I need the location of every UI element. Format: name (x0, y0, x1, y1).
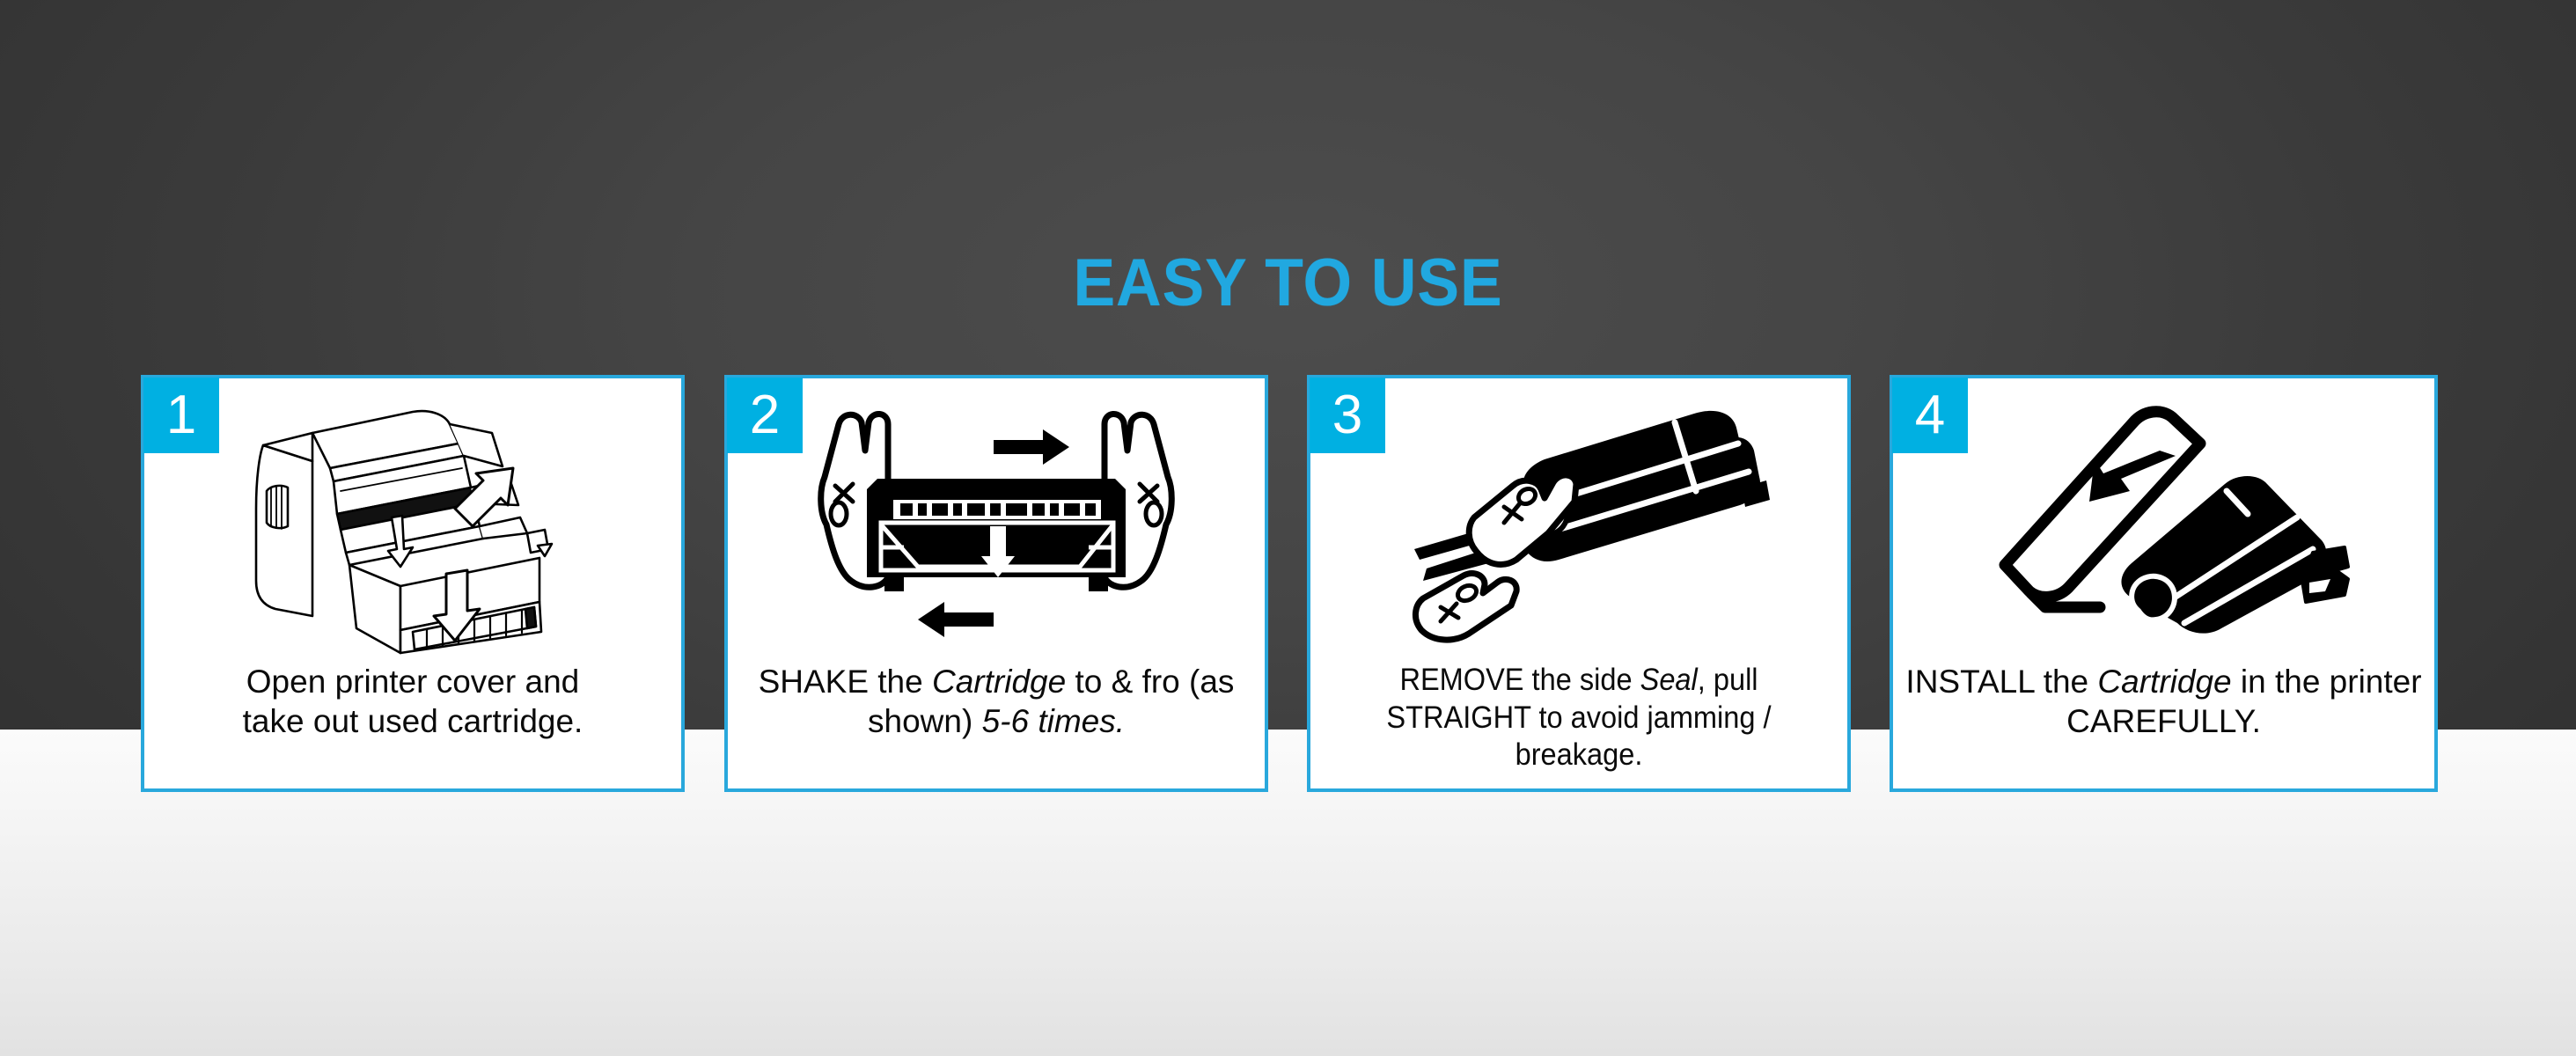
step-number-badge-4: 4 (1892, 378, 1968, 453)
install-cartridge-illustration (1893, 384, 2434, 665)
step-card-3[interactable]: 3 (1307, 375, 1851, 792)
step-number-badge-2: 2 (727, 378, 803, 453)
caption-part-1: REMOVE the side (1399, 663, 1640, 697)
printer-open-cover-illustration (144, 384, 681, 665)
step-caption-1: Open printer cover and take out used car… (153, 662, 672, 741)
caption-line-2: take out used cartridge. (243, 703, 583, 739)
caption-part-1: SHAKE the (759, 664, 932, 700)
step-caption-3: REMOVE the side Seal, pull STRAIGHT to a… (1338, 662, 1821, 774)
remove-side-seal-illustration (1310, 384, 1847, 665)
page-title: EASY TO USE (77, 250, 2499, 317)
caption-emphasis-1: Cartridge (2097, 664, 2231, 700)
caption-line-1: Open printer cover and (246, 664, 579, 700)
step-caption-4: INSTALL the Cartridge in the printer CAR… (1902, 662, 2426, 741)
step-number-badge-3: 3 (1310, 378, 1385, 453)
caption-emphasis-2: 5-6 times. (982, 703, 1125, 739)
poster-canvas: EASY TO USE 1 (0, 0, 2576, 1056)
step-card-4[interactable]: 4 (1890, 375, 2438, 792)
step-number-badge-1: 1 (143, 378, 219, 453)
step-caption-2: SHAKE the Cartridge to & fro (as shown) … (737, 662, 1256, 741)
caption-part-1: INSTALL the (1905, 664, 2097, 700)
hands-shaking-cartridge-illustration (728, 384, 1265, 665)
step-card-1[interactable]: 1 (141, 375, 685, 792)
caption-emphasis-1: Cartridge (932, 664, 1066, 700)
step-card-2[interactable]: 2 (724, 375, 1268, 792)
steps-row: 1 (141, 375, 2438, 792)
caption-emphasis-1: Seal (1640, 663, 1698, 697)
